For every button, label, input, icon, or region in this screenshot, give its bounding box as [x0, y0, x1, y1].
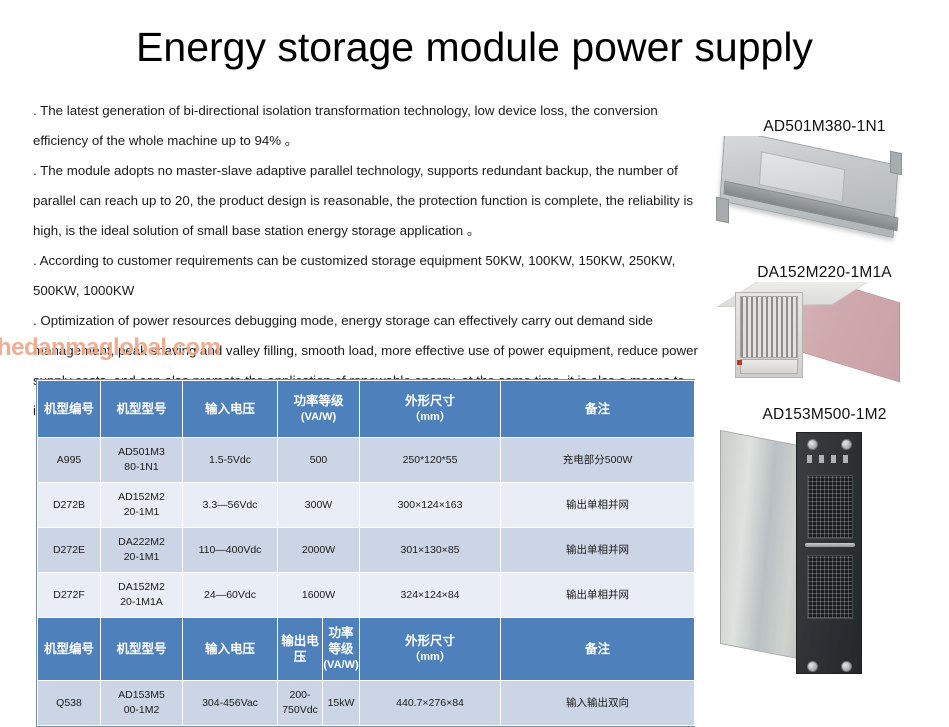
product-label-3: AD153M500-1M2 [700, 406, 949, 424]
header-model-type: 机型型号 [101, 381, 183, 438]
cell-dimensions: 301×130×85 [360, 528, 501, 573]
header-dimensions-unit: （mm） [360, 649, 500, 665]
header-dimensions: 外形尺寸 （mm） [360, 381, 501, 438]
module-fan-grille-bottom [807, 555, 853, 619]
cell-input-voltage: 24—60Vdc [183, 573, 278, 618]
product-item-2: DA152M220-1M1A [700, 264, 949, 390]
cell-remark: 输出单相并网 [501, 573, 695, 618]
cell-model-type-line2: 00-1M2 [102, 703, 181, 718]
cell-model-type: DA222M2 20-1M1 [101, 528, 183, 573]
module-status-led [737, 360, 742, 365]
cell-model-type-line1: AD152M2 [102, 490, 181, 505]
module-screw [841, 439, 852, 450]
table-header-row-1: 机型编号 机型型号 输入电压 功率等级 (VA/W) 外形尺寸 （mm） 备注 [38, 381, 695, 438]
product-label-1: AD501M380-1N1 [700, 118, 949, 136]
cell-model-type: AD153M5 00-1M2 [101, 681, 183, 726]
header-input-voltage: 输入电压 [183, 618, 278, 681]
cell-model-type-line1: DA222M2 [102, 535, 181, 550]
description-paragraph: . The latest generation of bi-directiona… [33, 96, 705, 156]
table-row: A995 AD501M3 80-1N1 1.5-5Vdc 500 250*120… [38, 438, 695, 483]
header-power-level: 功率等级 (VA/W) [323, 618, 360, 681]
module-fan-grille-top [807, 475, 853, 539]
product-item-1: AD501M380-1N1 [700, 118, 949, 246]
table-row: Q538 AD153M5 00-1M2 304-456Vac 200- 750V… [38, 681, 695, 726]
description-paragraph: . The module adopts no master-slave adap… [33, 156, 705, 246]
header-model-no: 机型编号 [38, 381, 101, 438]
table-row: D272B AD152M2 20-1M1 3.3—56Vdc 300W 300×… [38, 483, 695, 528]
cell-model-no: D272B [38, 483, 101, 528]
cell-model-type-line2: 20-1M1 [102, 550, 181, 565]
specification-table: 机型编号 机型型号 输入电压 功率等级 (VA/W) 外形尺寸 （mm） 备注 … [36, 379, 695, 727]
module-handle [805, 543, 855, 547]
header-dimensions-label: 外形尺寸 [405, 394, 455, 408]
page-title: Energy storage module power supply [0, 24, 949, 71]
product-image-ad501m380-1n1 [700, 136, 949, 246]
module-connector-panel [740, 359, 798, 374]
module-screw [841, 661, 852, 672]
cell-power-level: 1600W [278, 573, 360, 618]
module-mount-ear-right [890, 151, 902, 176]
cell-model-type-line1: AD153M5 [102, 688, 181, 703]
cell-output-voltage-line1: 200- [279, 688, 321, 703]
product-item-3: AD153M500-1M2 [700, 406, 949, 679]
cell-model-type-line1: AD501M3 [102, 445, 181, 460]
header-remark: 备注 [501, 381, 695, 438]
product-label-2: DA152M220-1M1A [700, 264, 949, 282]
cell-power-level: 2000W [278, 528, 360, 573]
cell-model-no: Q538 [38, 681, 101, 726]
header-power-level-unit: (VA/W) [278, 409, 359, 425]
cell-dimensions: 250*120*55 [360, 438, 501, 483]
header-remark: 备注 [501, 618, 695, 681]
module-side-panel [720, 430, 804, 660]
header-dimensions-label: 外形尺寸 [405, 634, 455, 648]
module-screw [807, 439, 818, 450]
cell-power-level: 15kW [323, 681, 360, 726]
cell-model-type-line2: 20-1M1A [102, 595, 181, 610]
cell-model-type: DA152M2 20-1M1A [101, 573, 183, 618]
cell-input-voltage: 3.3—56Vdc [183, 483, 278, 528]
cell-remark: 输出单相并网 [501, 483, 695, 528]
cell-model-type-line1: DA152M2 [102, 580, 181, 595]
cell-model-no: A995 [38, 438, 101, 483]
module-screw [807, 661, 818, 672]
cell-model-type-line2: 20-1M1 [102, 505, 181, 520]
header-model-no: 机型编号 [38, 618, 101, 681]
product-image-ad153m500-1m2 [700, 424, 949, 679]
cell-model-type: AD152M2 20-1M1 [101, 483, 183, 528]
cell-dimensions: 440.7×276×84 [360, 681, 501, 726]
header-dimensions: 外形尺寸 （mm） [360, 618, 501, 681]
cell-input-voltage: 110—400Vdc [183, 528, 278, 573]
product-image-da152m220-1m1a [700, 282, 949, 390]
cell-dimensions: 324×124×84 [360, 573, 501, 618]
cell-output-voltage-line2: 750Vdc [279, 703, 321, 718]
module-front-panel [796, 432, 862, 674]
cell-model-type: AD501M3 80-1N1 [101, 438, 183, 483]
cell-remark: 充电部分500W [501, 438, 695, 483]
header-power-level-label: 功率等级 [329, 626, 354, 656]
header-output-voltage: 输出电压 [278, 618, 323, 681]
cell-model-no: D272F [38, 573, 101, 618]
header-dimensions-unit: （mm） [360, 409, 500, 425]
description-text-block: . The latest generation of bi-directiona… [33, 96, 705, 426]
header-model-type: 机型型号 [101, 618, 183, 681]
cell-power-level: 300W [278, 483, 360, 528]
cell-input-voltage: 1.5-5Vdc [183, 438, 278, 483]
product-gallery: AD501M380-1N1 DA152M220-1M1A AD153M500-1… [700, 118, 949, 679]
header-power-level-unit: (VA/W) [323, 657, 359, 673]
header-power-level-label: 功率等级 [294, 394, 344, 408]
cell-model-no: D272E [38, 528, 101, 573]
table-header-row-2: 机型编号 机型型号 输入电压 输出电压 功率等级 (VA/W) 外形尺寸 （mm… [38, 618, 695, 681]
module-mount-ear-left [716, 197, 729, 224]
cell-remark: 输入输出双向 [501, 681, 695, 726]
cell-output-voltage: 200- 750Vdc [278, 681, 323, 726]
cell-dimensions: 300×124×163 [360, 483, 501, 528]
cell-input-voltage: 304-456Vac [183, 681, 278, 726]
cell-remark: 输出单相并网 [501, 528, 695, 573]
table-row: D272F DA152M2 20-1M1A 24—60Vdc 1600W 324… [38, 573, 695, 618]
description-paragraph: . According to customer requirements can… [33, 246, 705, 306]
table-row: D272E DA222M2 20-1M1 110—400Vdc 2000W 30… [38, 528, 695, 573]
cell-model-type-line2: 80-1N1 [102, 460, 181, 475]
cell-power-level: 500 [278, 438, 360, 483]
module-vent-grille [740, 296, 798, 358]
header-power-level: 功率等级 (VA/W) [278, 381, 360, 438]
module-indicator-leds [807, 455, 853, 463]
header-input-voltage: 输入电压 [183, 381, 278, 438]
